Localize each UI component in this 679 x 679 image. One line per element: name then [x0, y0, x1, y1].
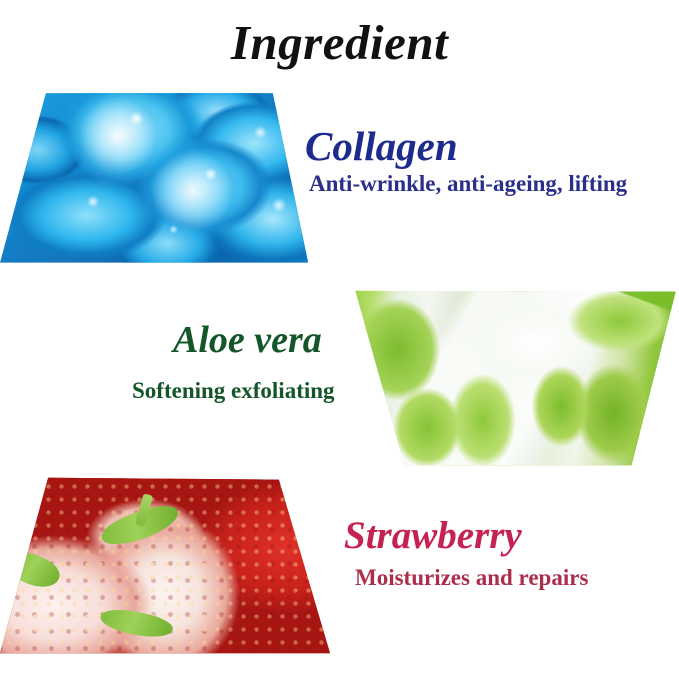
- ingredient-name-collagen: Collagen: [305, 122, 458, 170]
- aloe-vera-photo: [352, 289, 679, 467]
- page-title: Ingredient: [0, 14, 679, 71]
- bubble-highlights: [0, 91, 310, 264]
- ingredient-name-aloe-vera: Aloe vera: [173, 318, 322, 362]
- strawberry-photo: [0, 476, 332, 655]
- aloe-leaf-chunks: [352, 289, 679, 467]
- ingredient-poster: Ingredient Collagen Anti-wrinkle, anti-a…: [0, 0, 679, 679]
- collagen-photo-image: [0, 91, 310, 264]
- ingredient-description-aloe-vera: Softening exfoliating: [132, 378, 335, 404]
- ingredient-description-strawberry: Moisturizes and repairs: [355, 565, 588, 591]
- strawberry-photo-image: [0, 476, 332, 655]
- collagen-photo: [0, 91, 310, 264]
- aloe-vera-photo-image: [352, 289, 679, 467]
- ingredient-description-collagen: Anti-wrinkle, anti-ageing, lifting: [309, 171, 627, 197]
- ingredient-name-strawberry: Strawberry: [344, 513, 522, 558]
